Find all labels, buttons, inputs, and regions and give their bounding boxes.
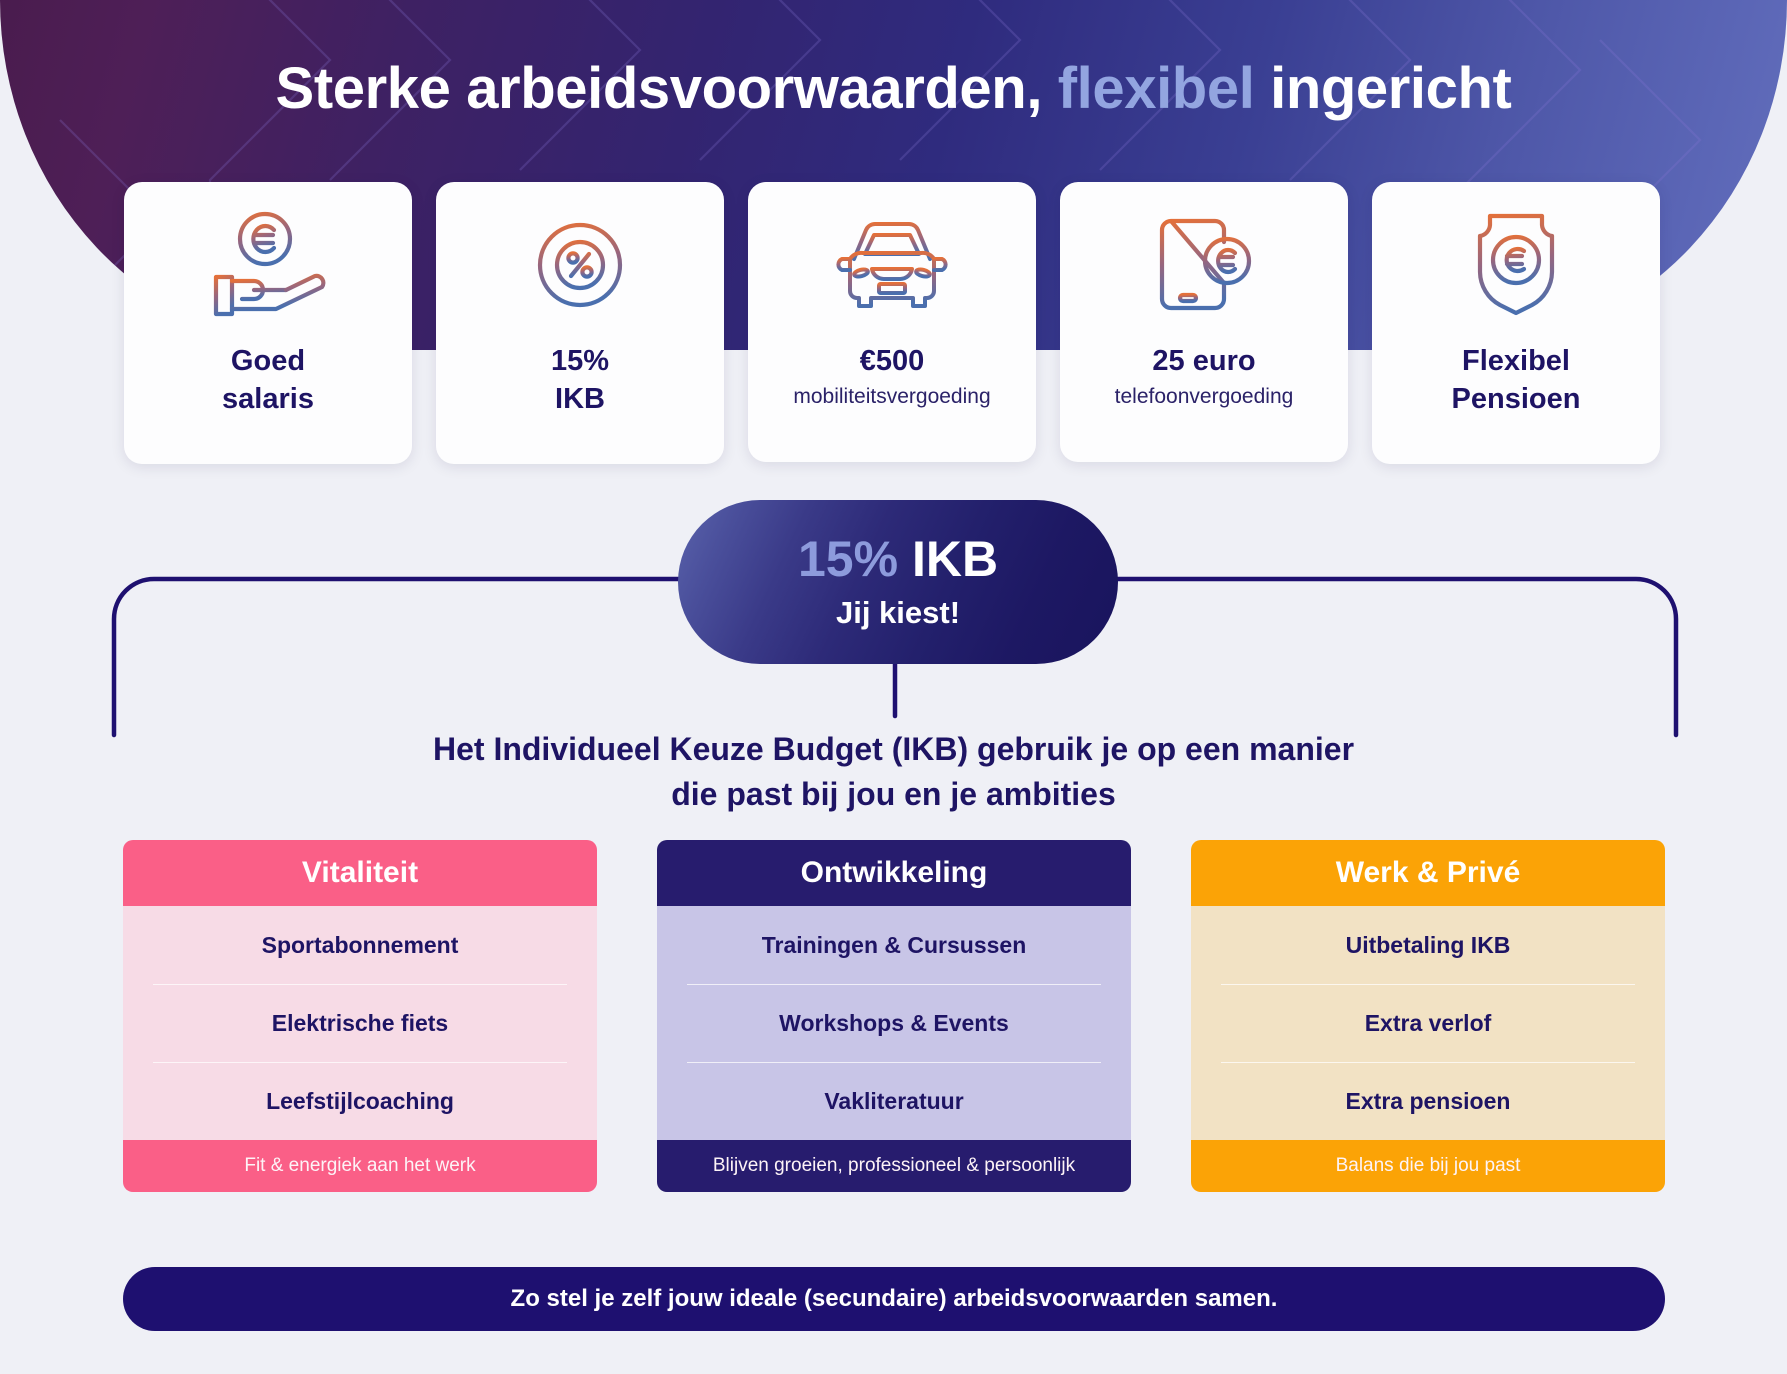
page-title-accent: flexibel	[1042, 56, 1254, 121]
category-column-werk-en-prive[interactable]: Werk & Privé Uitbetaling IKB Extra verlo…	[1191, 840, 1665, 1192]
ikb-description-line2: die past bij jou en je ambities	[0, 772, 1787, 817]
page-title-part2: ingericht	[1254, 56, 1511, 121]
category-column-ontwikkeling[interactable]: Ontwikkeling Trainingen & Cursussen Work…	[657, 840, 1131, 1192]
benefit-card-title: Goed salaris	[222, 342, 314, 419]
ikb-description-line1: Het Individueel Keuze Budget (IKB) gebru…	[0, 727, 1787, 772]
hand-with-euro-coin-icon	[202, 206, 334, 324]
category-header: Werk & Privé	[1191, 840, 1665, 906]
benefit-card-flexibel-pensioen[interactable]: Flexibel Pensioen	[1372, 182, 1660, 464]
ikb-pill-percent: 15%	[798, 531, 898, 587]
smartphone-euro-icon	[1149, 206, 1259, 324]
page-title-part1: Sterke arbeidsvoorwaarden,	[276, 56, 1042, 121]
list-item[interactable]: Sportabonnement	[153, 906, 567, 984]
benefit-title-line1: Flexibel	[1462, 345, 1570, 377]
list-item[interactable]: Elektrische fiets	[153, 984, 567, 1062]
ikb-pill-label: IKB	[912, 531, 998, 587]
category-items: Uitbetaling IKB Extra verlof Extra pensi…	[1191, 906, 1665, 1140]
benefit-card-15-ikb[interactable]: 15% IKB	[436, 182, 724, 464]
benefit-card-subtitle: mobiliteitsvergoeding	[793, 383, 990, 410]
car-front-icon	[817, 206, 967, 324]
ikb-pill-main-label: 15% IKB	[798, 533, 998, 586]
category-header: Vitaliteit	[123, 840, 597, 906]
category-footer: Balans die bij jou past	[1191, 1140, 1665, 1192]
benefit-card-title: €500	[860, 342, 925, 380]
benefit-card-telefoonvergoeding[interactable]: 25 euro telefoonvergoeding	[1060, 182, 1348, 462]
category-footer: Fit & energiek aan het werk	[123, 1140, 597, 1192]
benefit-card-mobiliteitsvergoeding[interactable]: €500 mobiliteitsvergoeding	[748, 182, 1036, 462]
ikb-description: Het Individueel Keuze Budget (IKB) gebru…	[0, 727, 1787, 817]
list-item[interactable]: Uitbetaling IKB	[1221, 906, 1635, 984]
benefit-title-line2: Pensioen	[1452, 383, 1581, 415]
benefit-title-line1: 15%	[551, 345, 609, 377]
list-item[interactable]: Trainingen & Cursussen	[687, 906, 1101, 984]
list-item[interactable]: Extra verlof	[1221, 984, 1635, 1062]
benefit-card-title: 15% IKB	[551, 342, 609, 419]
category-footer: Blijven groeien, professioneel & persoon…	[657, 1140, 1131, 1192]
benefit-card-goed-salaris[interactable]: Goed salaris	[124, 182, 412, 464]
benefit-title-line1: Goed	[231, 345, 305, 377]
list-item[interactable]: Vakliteratuur	[687, 1062, 1101, 1140]
ikb-pill-subtitle: Jij kiest!	[836, 595, 960, 631]
category-header: Ontwikkeling	[657, 840, 1131, 906]
benefit-title-line2: salaris	[222, 383, 314, 415]
ikb-highlight-pill: 15% IKB Jij kiest!	[678, 500, 1118, 664]
category-columns: Vitaliteit Sportabonnement Elektrische f…	[123, 840, 1665, 1192]
category-items: Trainingen & Cursussen Workshops & Event…	[657, 906, 1131, 1140]
page-title: Sterke arbeidsvoorwaarden, flexibel inge…	[0, 55, 1787, 122]
shield-euro-icon	[1464, 206, 1568, 324]
list-item[interactable]: Leefstijlcoaching	[153, 1062, 567, 1140]
pill-stem-connector	[880, 660, 910, 720]
list-item[interactable]: Workshops & Events	[687, 984, 1101, 1062]
category-items: Sportabonnement Elektrische fiets Leefst…	[123, 906, 597, 1140]
benefit-card-title: 25 euro	[1152, 342, 1255, 380]
target-percentage-icon	[521, 206, 639, 324]
benefit-cards-row: Goed salaris	[124, 182, 1664, 464]
category-column-vitaliteit[interactable]: Vitaliteit Sportabonnement Elektrische f…	[123, 840, 597, 1192]
benefit-card-subtitle: telefoonvergoeding	[1115, 383, 1294, 410]
benefit-card-title: Flexibel Pensioen	[1452, 342, 1581, 419]
summary-bar: Zo stel je zelf jouw ideale (secundaire)…	[123, 1267, 1665, 1331]
list-item[interactable]: Extra pensioen	[1221, 1062, 1635, 1140]
benefit-title-line2: IKB	[555, 383, 605, 415]
